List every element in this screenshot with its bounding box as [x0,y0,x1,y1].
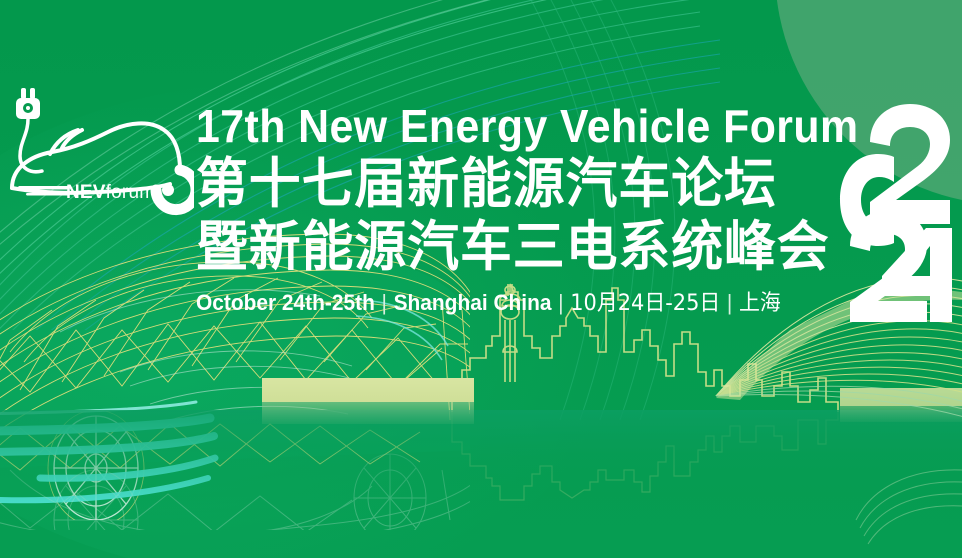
logo-wordmark: NEVforum [66,182,155,204]
title-chinese-line2: 暨新能源汽车三电系统峰会 [196,215,820,278]
subtitle-date-cn: 10月24日-25日 [570,291,720,316]
subtitle-separator-2: | [552,290,571,315]
subtitle-separator-1: | [375,290,394,315]
car-wheel-icon [156,170,194,210]
water-band [0,410,962,515]
subtitle-location-en: Shanghai China [394,290,552,315]
logo-wordmark-forum: forum [106,182,156,203]
car-wheel [54,416,138,520]
subtitle-date-en: October 24th-25th [196,290,375,315]
car-reflection [0,454,492,558]
skyline-reflection [452,412,838,500]
title-english: 17th New Energy Vehicle Forum [196,100,801,152]
cyan-light-streak [0,418,215,500]
year-mark-2024 [834,100,958,322]
title-block: 17th New Energy Vehicle Forum 第十七届新能源汽车论… [196,100,846,317]
logo-wordmark-nev: NEV [66,182,106,203]
subtitle-separator-3: | [720,290,739,315]
accent-bar [262,378,962,424]
edge-arcs [856,470,962,544]
year-digit-2-lower [850,210,927,322]
event-banner: NEVforum 17th New Energy Vehicle Forum 第… [0,0,962,558]
subtitle-location-cn: 上海 [739,291,781,316]
title-chinese-line1: 第十七届新能源汽车论坛 [196,152,820,215]
subtitle-line: October 24th-25th|Shanghai China|10月24日-… [196,290,814,317]
